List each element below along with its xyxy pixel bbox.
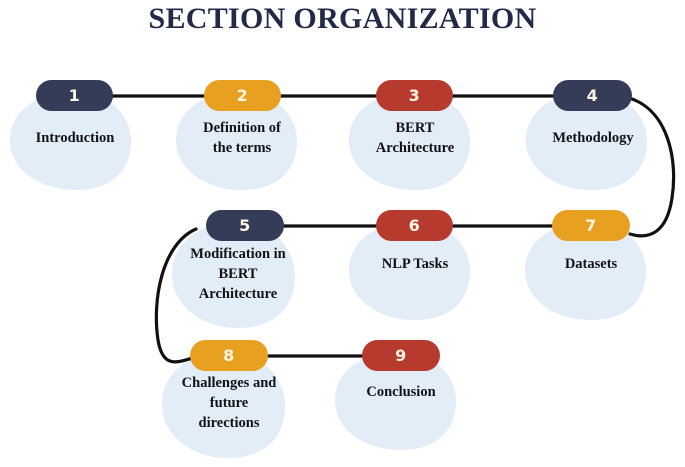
node-5-label: Modification in BERT Architecture: [173, 244, 303, 304]
node-5-badge[interactable]: 5: [206, 210, 284, 241]
node-3-label: BERT Architecture: [350, 118, 480, 158]
node-9-label: Conclusion: [336, 382, 466, 402]
node-4-label: Methodology: [527, 128, 659, 148]
node-8-label: Challenges and future directions: [163, 373, 295, 433]
node-3-badge[interactable]: 3: [376, 80, 453, 111]
node-2-badge[interactable]: 2: [204, 80, 281, 111]
diagram-canvas: SECTION ORGANIZATION 1 I: [0, 0, 685, 467]
node-6-label: NLP Tasks: [350, 254, 480, 274]
node-1-label: Introduction: [11, 128, 139, 148]
connector-4-7-curve: [630, 99, 674, 236]
node-4-badge[interactable]: 4: [553, 80, 632, 111]
node-6-badge[interactable]: 6: [376, 210, 453, 241]
node-2-label: Definition of the terms: [177, 118, 307, 158]
node-8-badge[interactable]: 8: [190, 340, 268, 371]
node-7-badge[interactable]: 7: [552, 210, 630, 241]
node-9-badge[interactable]: 9: [362, 340, 440, 371]
page-title: SECTION ORGANIZATION: [0, 2, 685, 36]
node-7-label: Datasets: [526, 254, 656, 274]
node-1-badge[interactable]: 1: [36, 80, 113, 111]
